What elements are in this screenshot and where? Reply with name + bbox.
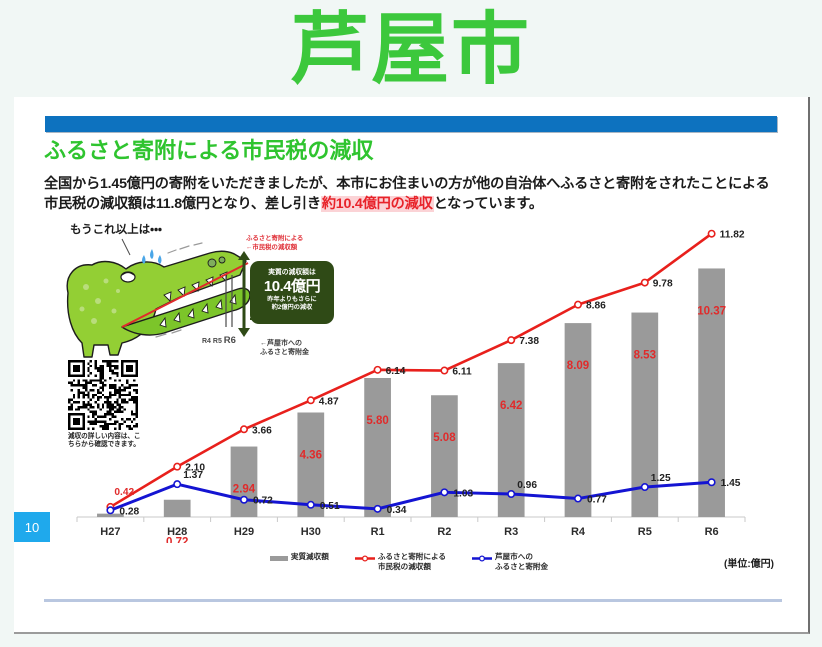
masthead: 芦屋市: [0, 0, 822, 97]
x-axis-label-H27: H27: [100, 526, 120, 538]
blue-line-value-label-R3: 0.96: [517, 480, 537, 491]
line-point-0-R4: [575, 301, 581, 307]
blue-line-value-label-R2: 1.03: [453, 488, 473, 499]
blue-line-value-label-R4: 0.77: [587, 495, 607, 506]
line-point-0-H28: [174, 463, 180, 469]
slide-title: ふるさと寄附による市民税の減収: [44, 136, 373, 166]
bar-R4: [565, 323, 592, 517]
line-point-1-H28: [174, 481, 180, 487]
line-series-1: [110, 482, 711, 510]
x-axis-label-R1: R1: [371, 526, 385, 538]
blue-line-value-label-R6: 1.45: [721, 478, 741, 489]
red-line-value-label-H29: 3.66: [252, 425, 272, 436]
legend-item-label: 実質減収額: [291, 552, 329, 562]
line-point-1-H30: [308, 502, 314, 508]
bar-value-label-R2: 5.08: [433, 432, 456, 444]
blue-line-value-label-H27: 0.28: [119, 506, 139, 517]
red-line-value-label-R3: 7.38: [519, 336, 539, 347]
x-axis-label-H30: H30: [301, 526, 321, 538]
line-point-1-R5: [642, 484, 648, 490]
x-axis-label-R3: R3: [504, 526, 518, 538]
red-line-value-label-R5: 9.78: [653, 279, 673, 290]
blue-line-value-label-H30: 0.51: [320, 501, 340, 512]
legend-swatch-line-icon: [472, 554, 492, 563]
x-axis-label-H28: H28: [167, 526, 187, 538]
blue-line-value-label-R1: 0.34: [387, 505, 407, 516]
legend-item-label: 芦屋市へのふるさと寄附金: [495, 552, 548, 571]
line-point-1-H29: [241, 497, 247, 503]
legend-item-0: 実質減収額: [270, 552, 329, 562]
line-point-0-R5: [642, 279, 648, 285]
footer-divider: [44, 599, 782, 602]
chart-area: 0.140.722.944.365.805.086.428.098.5310.3…: [69, 205, 781, 543]
line-point-1-R4: [575, 495, 581, 501]
line-point-0-H30: [308, 397, 314, 403]
bar-value-label-R1: 5.80: [366, 415, 388, 427]
unit-note: (単位:億円): [724, 555, 774, 570]
line-point-0-R3: [508, 337, 514, 343]
page-number-badge: 10: [14, 512, 50, 542]
line-point-0-R2: [441, 367, 447, 373]
chart-legend: 実質減収額ふるさと寄附による市民税の減収額芦屋市へのふるさと寄附金: [194, 552, 624, 588]
bar-H28: [164, 500, 191, 517]
legend-swatch-line-icon: [355, 554, 375, 563]
bar-value-label-H30: 4.36: [300, 449, 322, 461]
red-line-value-label-H27: 0.42: [114, 487, 134, 498]
x-axis-label-R4: R4: [571, 526, 586, 538]
bar-value-label-R3: 6.42: [500, 400, 522, 412]
line-point-1-R3: [508, 491, 514, 497]
slide-card: ふるさと寄附による市民税の減収 全国から1.45億円の寄附をいただきましたが、本…: [14, 97, 810, 634]
bar-R1: [364, 378, 391, 517]
blue-line-value-label-R5: 1.25: [651, 473, 671, 484]
red-line-value-label-R1: 6.14: [386, 366, 406, 377]
line-point-0-R6: [708, 230, 714, 236]
bar-value-label-R5: 8.53: [634, 350, 656, 362]
x-axis-label-H29: H29: [234, 526, 254, 538]
x-axis-label-R6: R6: [705, 526, 719, 538]
red-line-value-label-R6: 11.82: [720, 230, 745, 241]
red-line-value-label-R4: 8.86: [586, 301, 606, 312]
legend-item-label: ふるさと寄附による市民税の減収額: [378, 552, 446, 571]
blue-line-value-label-H29: 0.72: [253, 496, 273, 507]
red-line-value-label-R2: 6.11: [452, 367, 472, 378]
line-point-0-H29: [241, 426, 247, 432]
legend-swatch-bar-icon: [270, 556, 288, 561]
line-point-1-H27: [107, 507, 113, 513]
blue-line-value-label-H28: 1.37: [183, 470, 203, 481]
legend-item-1: ふるさと寄附による市民税の減収額: [355, 552, 446, 571]
slide-page: 芦屋市 ふるさと寄附による市民税の減収 全国から1.45億円の寄附をいただきまし…: [0, 0, 822, 647]
line-point-0-R1: [374, 367, 380, 373]
bar-value-label-R6: 10.37: [697, 305, 726, 317]
line-point-1-R1: [374, 506, 380, 512]
legend-item-2: 芦屋市へのふるさと寄附金: [472, 552, 548, 571]
line-point-1-R2: [441, 489, 447, 495]
city-name-heading: 芦屋市: [0, 8, 822, 92]
line-point-1-R6: [708, 479, 714, 485]
bar-value-label-H29: 2.94: [233, 484, 256, 496]
x-axis-label-R2: R2: [437, 526, 451, 538]
accent-bar: [45, 116, 777, 132]
x-axis-label-R5: R5: [638, 526, 652, 538]
combo-chart: 0.140.722.944.365.805.086.428.098.5310.3…: [69, 205, 781, 543]
red-line-value-label-H30: 4.87: [319, 396, 339, 407]
bar-value-label-R4: 8.09: [567, 360, 589, 372]
